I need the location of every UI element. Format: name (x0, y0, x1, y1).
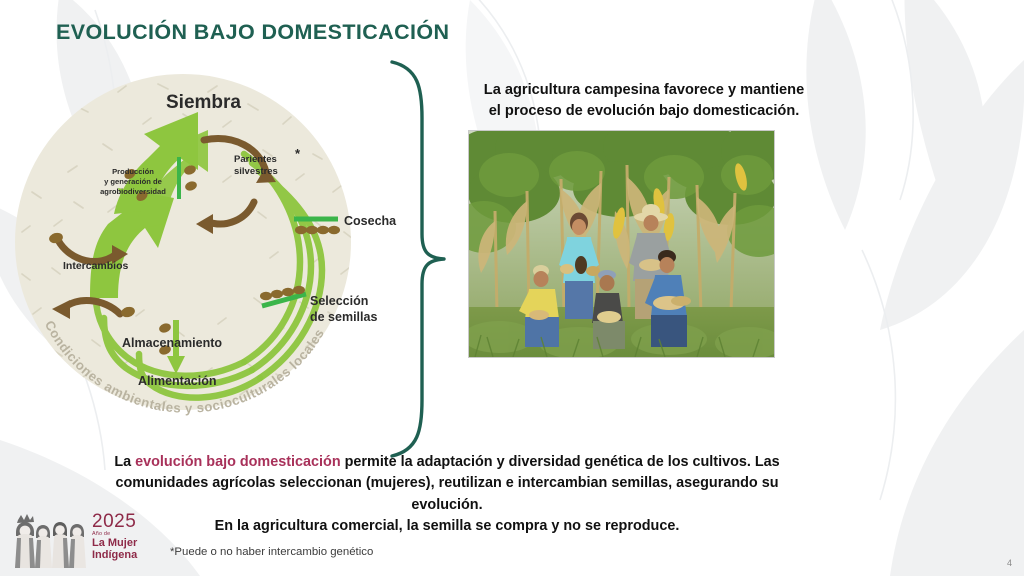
logo-year: 2025 (92, 512, 150, 531)
seed-cycle-diagram: Siembra Producción y generación de agrob… (8, 62, 408, 452)
brand-logo: 2025 Año de La Mujer Indígena (12, 512, 147, 570)
footnote: *Puede o no haber intercambio genético (170, 546, 373, 558)
label-alimentacion: Alimentación (138, 374, 217, 388)
indigenous-women-illustration (12, 514, 90, 568)
svg-text:y generación de: y generación de (104, 177, 162, 186)
right-heading-line1: La agricultura campesina favorece y mant… (434, 80, 854, 101)
paragraph-last-line: En la agricultura comercial, la semilla … (112, 516, 782, 537)
page-number: 4 (1007, 558, 1012, 568)
paragraph-before: La (114, 454, 135, 470)
right-heading-line2: el proceso de evolución bajo domesticaci… (434, 101, 854, 122)
label-almacenamiento: Almacenamiento (122, 336, 222, 350)
right-heading: La agricultura campesina favorece y mant… (434, 80, 854, 121)
label-intercambios: Intercambios (63, 260, 129, 272)
bottom-paragraph: La evolución bajo domesticación permite … (112, 452, 782, 537)
page-title: EVOLUCIÓN BAJO DOMESTICACIÓN (56, 20, 449, 45)
svg-text:Parientes: Parientes (234, 154, 277, 165)
svg-text:Selección: Selección (310, 294, 368, 308)
logo-text: 2025 Año de La Mujer Indígena (92, 512, 150, 562)
label-siembra: Siembra (166, 92, 241, 113)
svg-text:agrobiodiversidad: agrobiodiversidad (100, 187, 166, 196)
paragraph-highlight: evolución bajo domesticación (135, 454, 341, 470)
svg-text:Producción: Producción (112, 167, 154, 176)
logo-line2: Indígena (92, 550, 150, 562)
field-photo (468, 130, 775, 358)
svg-text:silvestres: silvestres (234, 166, 278, 177)
siembra-stem (177, 157, 181, 199)
svg-text:de semillas: de semillas (310, 310, 377, 324)
